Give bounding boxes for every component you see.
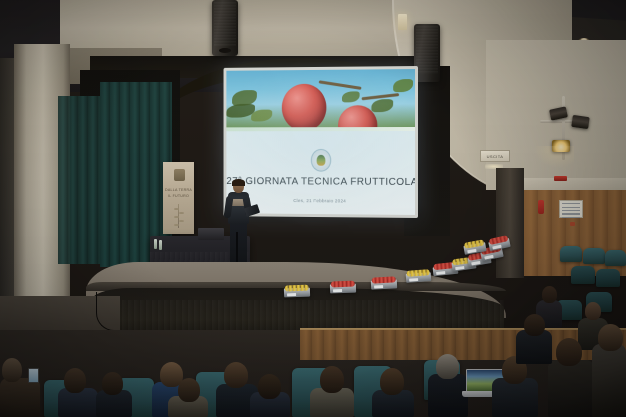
audience-member <box>0 378 40 417</box>
audience-head <box>542 286 557 303</box>
spotlight-beam <box>534 146 574 168</box>
banner-line1: DALLA TERRA <box>163 188 194 192</box>
audience-head <box>556 338 582 366</box>
presenter-legs <box>230 223 247 266</box>
wall-notice-sign <box>559 200 583 218</box>
presenter-hair <box>232 179 245 186</box>
audience-head <box>258 374 281 399</box>
audience-head <box>102 372 123 395</box>
side-door <box>496 168 524 278</box>
apple-crate <box>284 288 310 298</box>
banner-logo <box>174 169 185 181</box>
spotlight-truss-arm <box>540 120 576 123</box>
wall-sconce <box>398 14 407 30</box>
audience-member <box>592 344 626 417</box>
conference-crest-logo <box>311 149 331 172</box>
audience-head <box>178 378 200 402</box>
stage-cable <box>96 292 137 331</box>
water-bottle <box>154 239 157 249</box>
stage-laptop <box>198 228 224 240</box>
audience-head <box>598 324 623 351</box>
stage-curtain-outer <box>58 96 102 264</box>
audience-head <box>524 314 545 336</box>
audience-head <box>436 354 459 379</box>
slide-title: 27° GIORNATA TECNICA FRUTTICOLA <box>226 176 415 188</box>
apple-crate <box>406 272 432 283</box>
wall-socket <box>570 222 575 226</box>
pa-speaker-cabinet <box>212 0 238 56</box>
auditorium-seat <box>560 246 582 262</box>
audience-head <box>585 302 601 320</box>
exit-sign: USCITA <box>480 150 510 162</box>
audience-head <box>380 368 404 395</box>
audience-head <box>64 368 86 393</box>
fire-extinguisher <box>538 200 544 214</box>
auditorium-seat <box>583 248 605 264</box>
auditorium-seat <box>605 250 626 266</box>
rollup-banner: DALLA TERRA IL FUTURO <box>163 162 194 234</box>
stage-spotlight <box>571 115 590 129</box>
auditorium-seat <box>571 266 595 284</box>
auditorium-seat <box>596 269 620 287</box>
audience-phone <box>28 368 39 383</box>
slide-date: Cles, 21 Febbraio 2024 <box>226 198 415 204</box>
emergency-light <box>554 176 567 181</box>
audience-head <box>2 358 22 382</box>
audience-head <box>320 366 344 393</box>
apple-crate <box>330 284 356 294</box>
audience-member <box>548 360 594 417</box>
water-bottle <box>159 240 162 250</box>
presenter-standing <box>226 180 252 268</box>
presentation-slide: 27° GIORNATA TECNICA FRUTTICOLA Cles, 21… <box>226 69 415 215</box>
exit-sign-label: USCITA <box>487 154 504 159</box>
audience-head <box>224 362 248 388</box>
auditorium-photo: USCITA <box>0 0 626 417</box>
slide-photo-apples <box>226 69 415 127</box>
banner-line2: IL FUTURO <box>163 194 194 198</box>
apple-crate <box>371 279 397 289</box>
slide-divider <box>226 127 415 131</box>
presenter-leg-gap <box>236 232 238 266</box>
projection-screen: 27° GIORNATA TECNICA FRUTTICOLA Cles, 21… <box>224 66 418 218</box>
